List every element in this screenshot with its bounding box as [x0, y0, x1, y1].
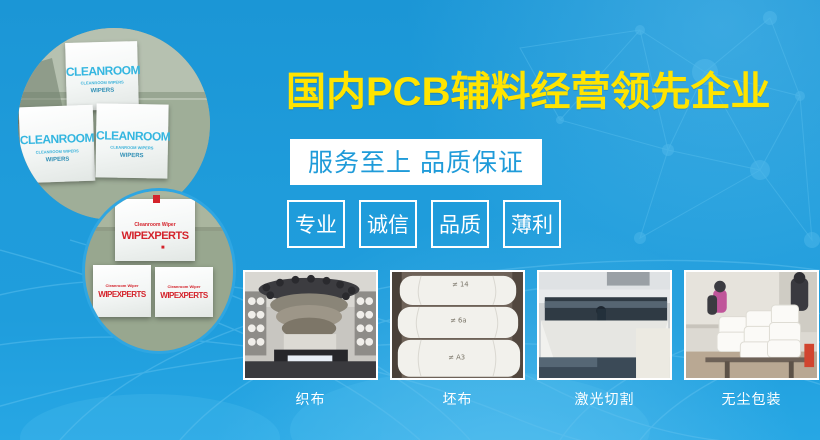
feature-tag-professional: 专业 — [287, 200, 345, 248]
pack-label: WIPEXPERTS — [115, 230, 195, 242]
photo-caption-greige: 坯布 — [390, 389, 525, 409]
pack-sublabel: Cleanroom Wiper — [115, 222, 195, 228]
pack-label: CLEANROOM — [96, 128, 168, 143]
photo-frame-weaving — [243, 270, 378, 380]
pack-sublabel: CLEANROOM WIPERS — [66, 79, 138, 86]
wipexperts-pack-right: Cleanroom Wiper WIPEXPERTS — [155, 267, 213, 317]
photo-frame-packaging — [684, 270, 819, 380]
pack-sublabel-2: WIPERS — [20, 156, 94, 165]
pack-mark: ■ — [161, 245, 165, 251]
banner-subtitle-bar: 服务至上 品质保证 — [290, 139, 542, 185]
knitting-machine-image — [245, 272, 376, 379]
pack-sublabel-2: WIPERS — [96, 152, 168, 159]
fabric-rolls-image: ≠ 14≠ 6a≠ A3 — [392, 272, 523, 379]
banner-headline: 国内PCB辅料经营领先企业 — [286, 72, 770, 112]
cleanroom-pack-left: CLEANROOM CLEANROOM WIPERS WIPERS — [19, 105, 96, 184]
feature-tag-low-profit: 薄利 — [503, 200, 561, 248]
wipexperts-pack-left: Cleanroom Wiper WIPEXPERTS — [93, 265, 151, 317]
photo-frame-greige: ≠ 14≠ 6a≠ A3 — [390, 270, 525, 380]
svg-text:≠ A3: ≠ A3 — [448, 353, 465, 361]
wipexperts-pack-top: Cleanroom Wiper WIPEXPERTS ■ — [115, 199, 195, 261]
process-photo-item-weaving: 织布 — [243, 270, 378, 409]
feature-tag-quality: 品质 — [431, 200, 489, 248]
svg-text:≠ 6a: ≠ 6a — [450, 316, 466, 324]
banner-subtitle: 服务至上 品质保证 — [308, 149, 524, 177]
pack-label: CLEANROOM — [66, 63, 138, 79]
pack-sublabel: Cleanroom Wiper — [155, 284, 213, 289]
promotional-banner: CLEANROOM CLEANROOM WIPERS WIPERS CLEANR… — [0, 0, 820, 440]
pack-sublabel: CLEANROOM WIPERS — [20, 148, 94, 156]
laser-cutting-machine-image — [539, 272, 670, 379]
photo-caption-weaving: 织布 — [243, 389, 378, 409]
photo-frame-laser — [537, 270, 672, 380]
svg-text:≠ 14: ≠ 14 — [452, 281, 468, 289]
process-photo-item-laser: 激光切割 — [537, 270, 672, 409]
photo-caption-packaging: 无尘包装 — [684, 389, 819, 409]
pack-label: WIPEXPERTS — [93, 290, 151, 299]
pack-sublabel-2: WIPERS — [66, 87, 138, 95]
feature-tag-integrity: 诚信 — [359, 200, 417, 248]
process-photo-gallery: 织布 — [243, 270, 819, 409]
pack-label: WIPEXPERTS — [155, 291, 213, 300]
process-photo-item-packaging: 无尘包装 — [684, 270, 819, 409]
cleanroom-pack-top: CLEANROOM CLEANROOM WIPERS WIPERS — [65, 41, 139, 111]
photo-caption-laser: 激光切割 — [537, 389, 672, 409]
pack-seal — [153, 195, 160, 203]
pack-label: CLEANROOM — [20, 131, 94, 148]
feature-tag-list: 专业 诚信 品质 薄利 — [287, 200, 561, 248]
product-photo-wipexperts: Cleanroom Wiper WIPEXPERTS ■ Cleanroom W… — [82, 188, 236, 354]
process-photo-item-greige: ≠ 14≠ 6a≠ A3 坯布 — [390, 270, 525, 409]
pack-sublabel: Cleanroom Wiper — [93, 283, 151, 288]
pack-sublabel: CLEANROOM WIPERS — [96, 144, 168, 150]
cleanroom-pack-right: CLEANROOM CLEANROOM WIPERS WIPERS — [95, 103, 168, 178]
cleanroom-packaging-image — [686, 272, 817, 379]
